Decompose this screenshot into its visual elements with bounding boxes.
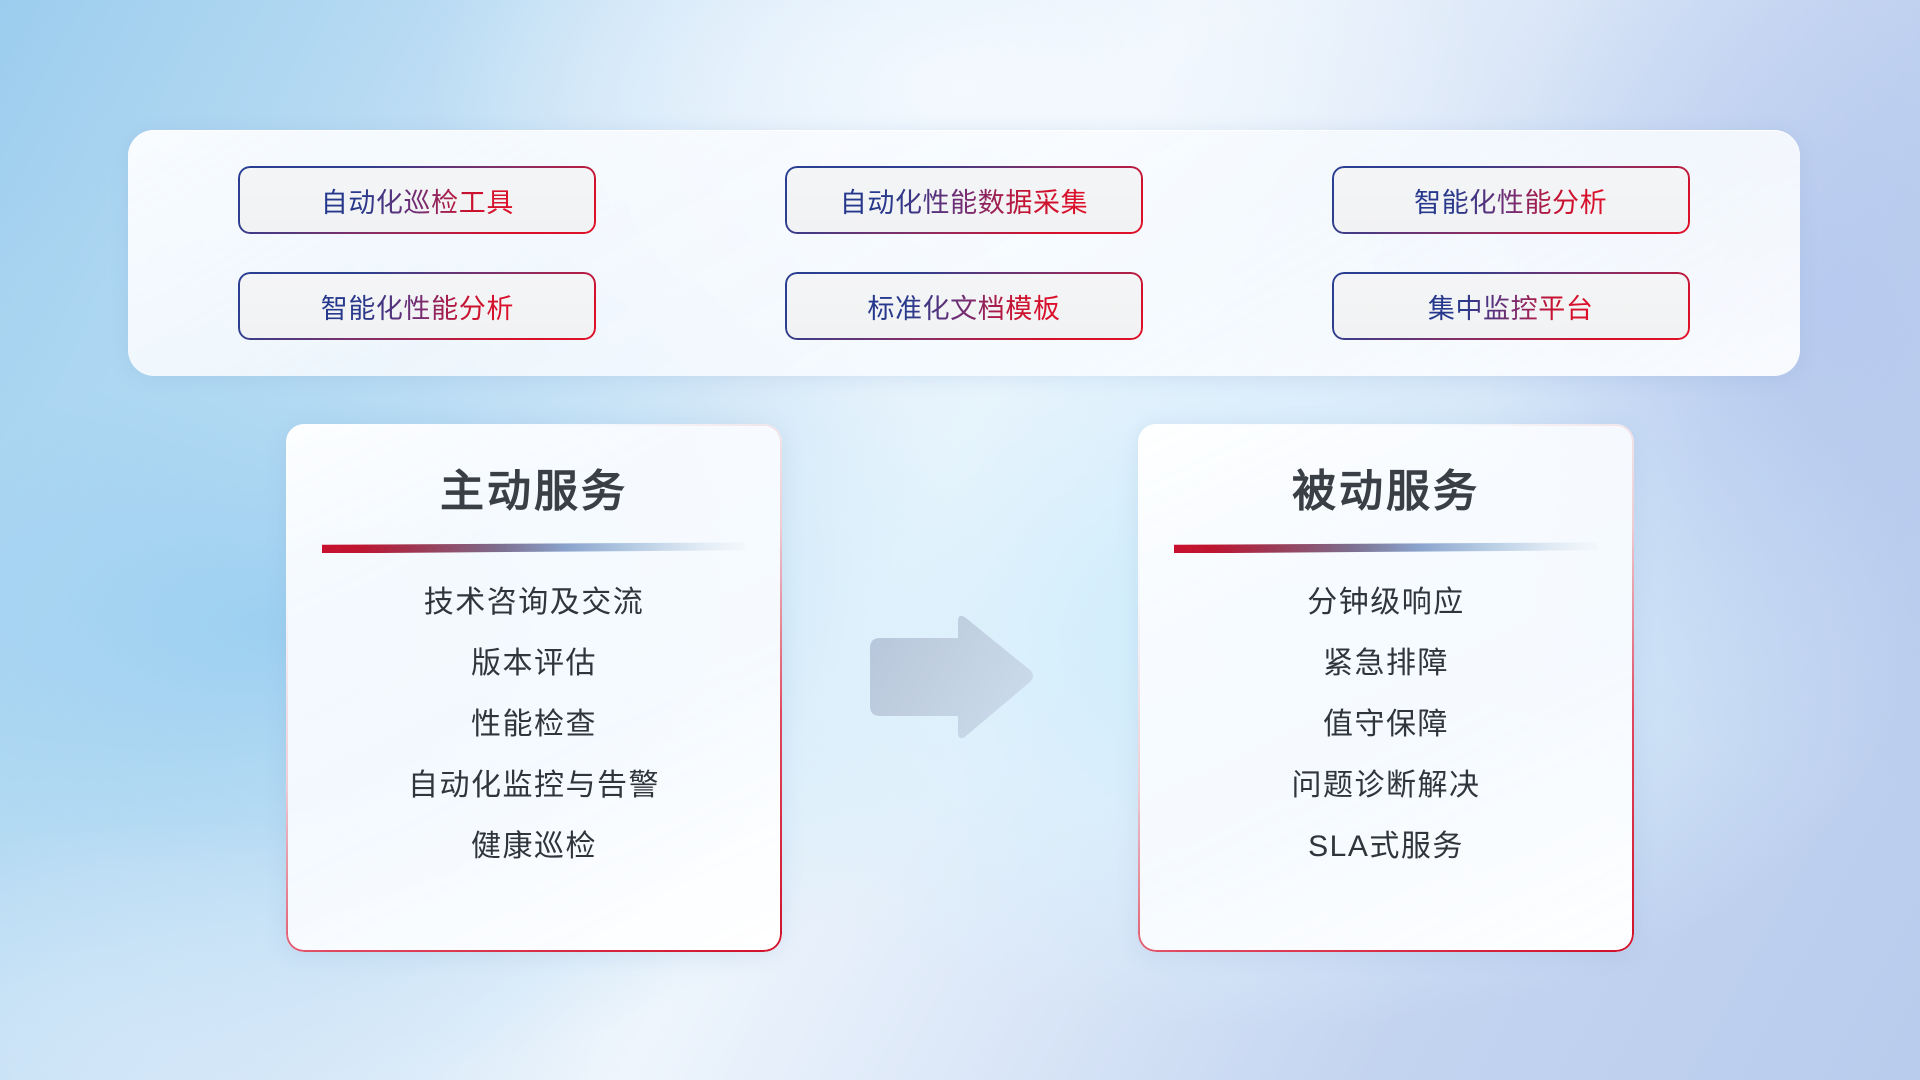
capability-pill-label: 自动化巡检工具 [321, 181, 514, 220]
capability-pill-label: 智能化性能分析 [1414, 181, 1607, 220]
list-item: 值守保障 [1164, 707, 1608, 743]
service-item-list: 技术咨询及交流 版本评估 性能检查 自动化监控与告警 健康巡检 [312, 585, 756, 865]
list-item: 问题诊断解决 [1164, 768, 1608, 804]
capability-pill-label: 标准化文档模板 [867, 287, 1060, 326]
service-card-title: 主动服务 [312, 468, 756, 516]
service-card-title: 被动服务 [1164, 468, 1608, 516]
arrow-right-icon [866, 612, 1036, 744]
capability-pill-standardized-document-template[interactable]: 标准化文档模板 [785, 272, 1143, 340]
capabilities-panel: 自动化巡检工具 自动化性能数据采集 智能化性能分析 智能化性能分析 标准化文档模… [128, 130, 1800, 376]
capability-pill-intelligent-performance-analysis-2[interactable]: 智能化性能分析 [238, 272, 596, 340]
list-item: 版本评估 [312, 646, 756, 682]
title-underline-accent [1174, 542, 1598, 553]
list-item: 性能检查 [312, 707, 756, 743]
service-card-proactive: 主动服务 技术咨询及交流 版本评估 性能检查 自动化监控与告警 健康巡检 [286, 424, 782, 952]
capability-pill-centralized-monitoring-platform[interactable]: 集中监控平台 [1332, 272, 1690, 340]
capability-pill-intelligent-performance-analysis-1[interactable]: 智能化性能分析 [1332, 166, 1690, 234]
capability-pill-label: 集中监控平台 [1428, 287, 1594, 326]
list-item: 技术咨询及交流 [312, 585, 756, 621]
list-item: SLA式服务 [1164, 829, 1608, 865]
capability-pill-label: 自动化性能数据采集 [840, 181, 1088, 220]
service-item-list: 分钟级响应 紧急排障 值守保障 问题诊断解决 SLA式服务 [1164, 585, 1608, 865]
list-item: 紧急排障 [1164, 646, 1608, 682]
list-item: 健康巡检 [312, 829, 756, 865]
capability-pill-automated-performance-data-collection[interactable]: 自动化性能数据采集 [785, 166, 1143, 234]
service-card-reactive: 被动服务 分钟级响应 紧急排障 值守保障 问题诊断解决 SLA式服务 [1138, 424, 1634, 952]
capability-pill-automated-inspection-tool[interactable]: 自动化巡检工具 [238, 166, 596, 234]
capability-pill-label: 智能化性能分析 [321, 287, 514, 326]
title-underline-accent [322, 542, 746, 553]
list-item: 自动化监控与告警 [312, 768, 756, 804]
list-item: 分钟级响应 [1164, 585, 1608, 621]
